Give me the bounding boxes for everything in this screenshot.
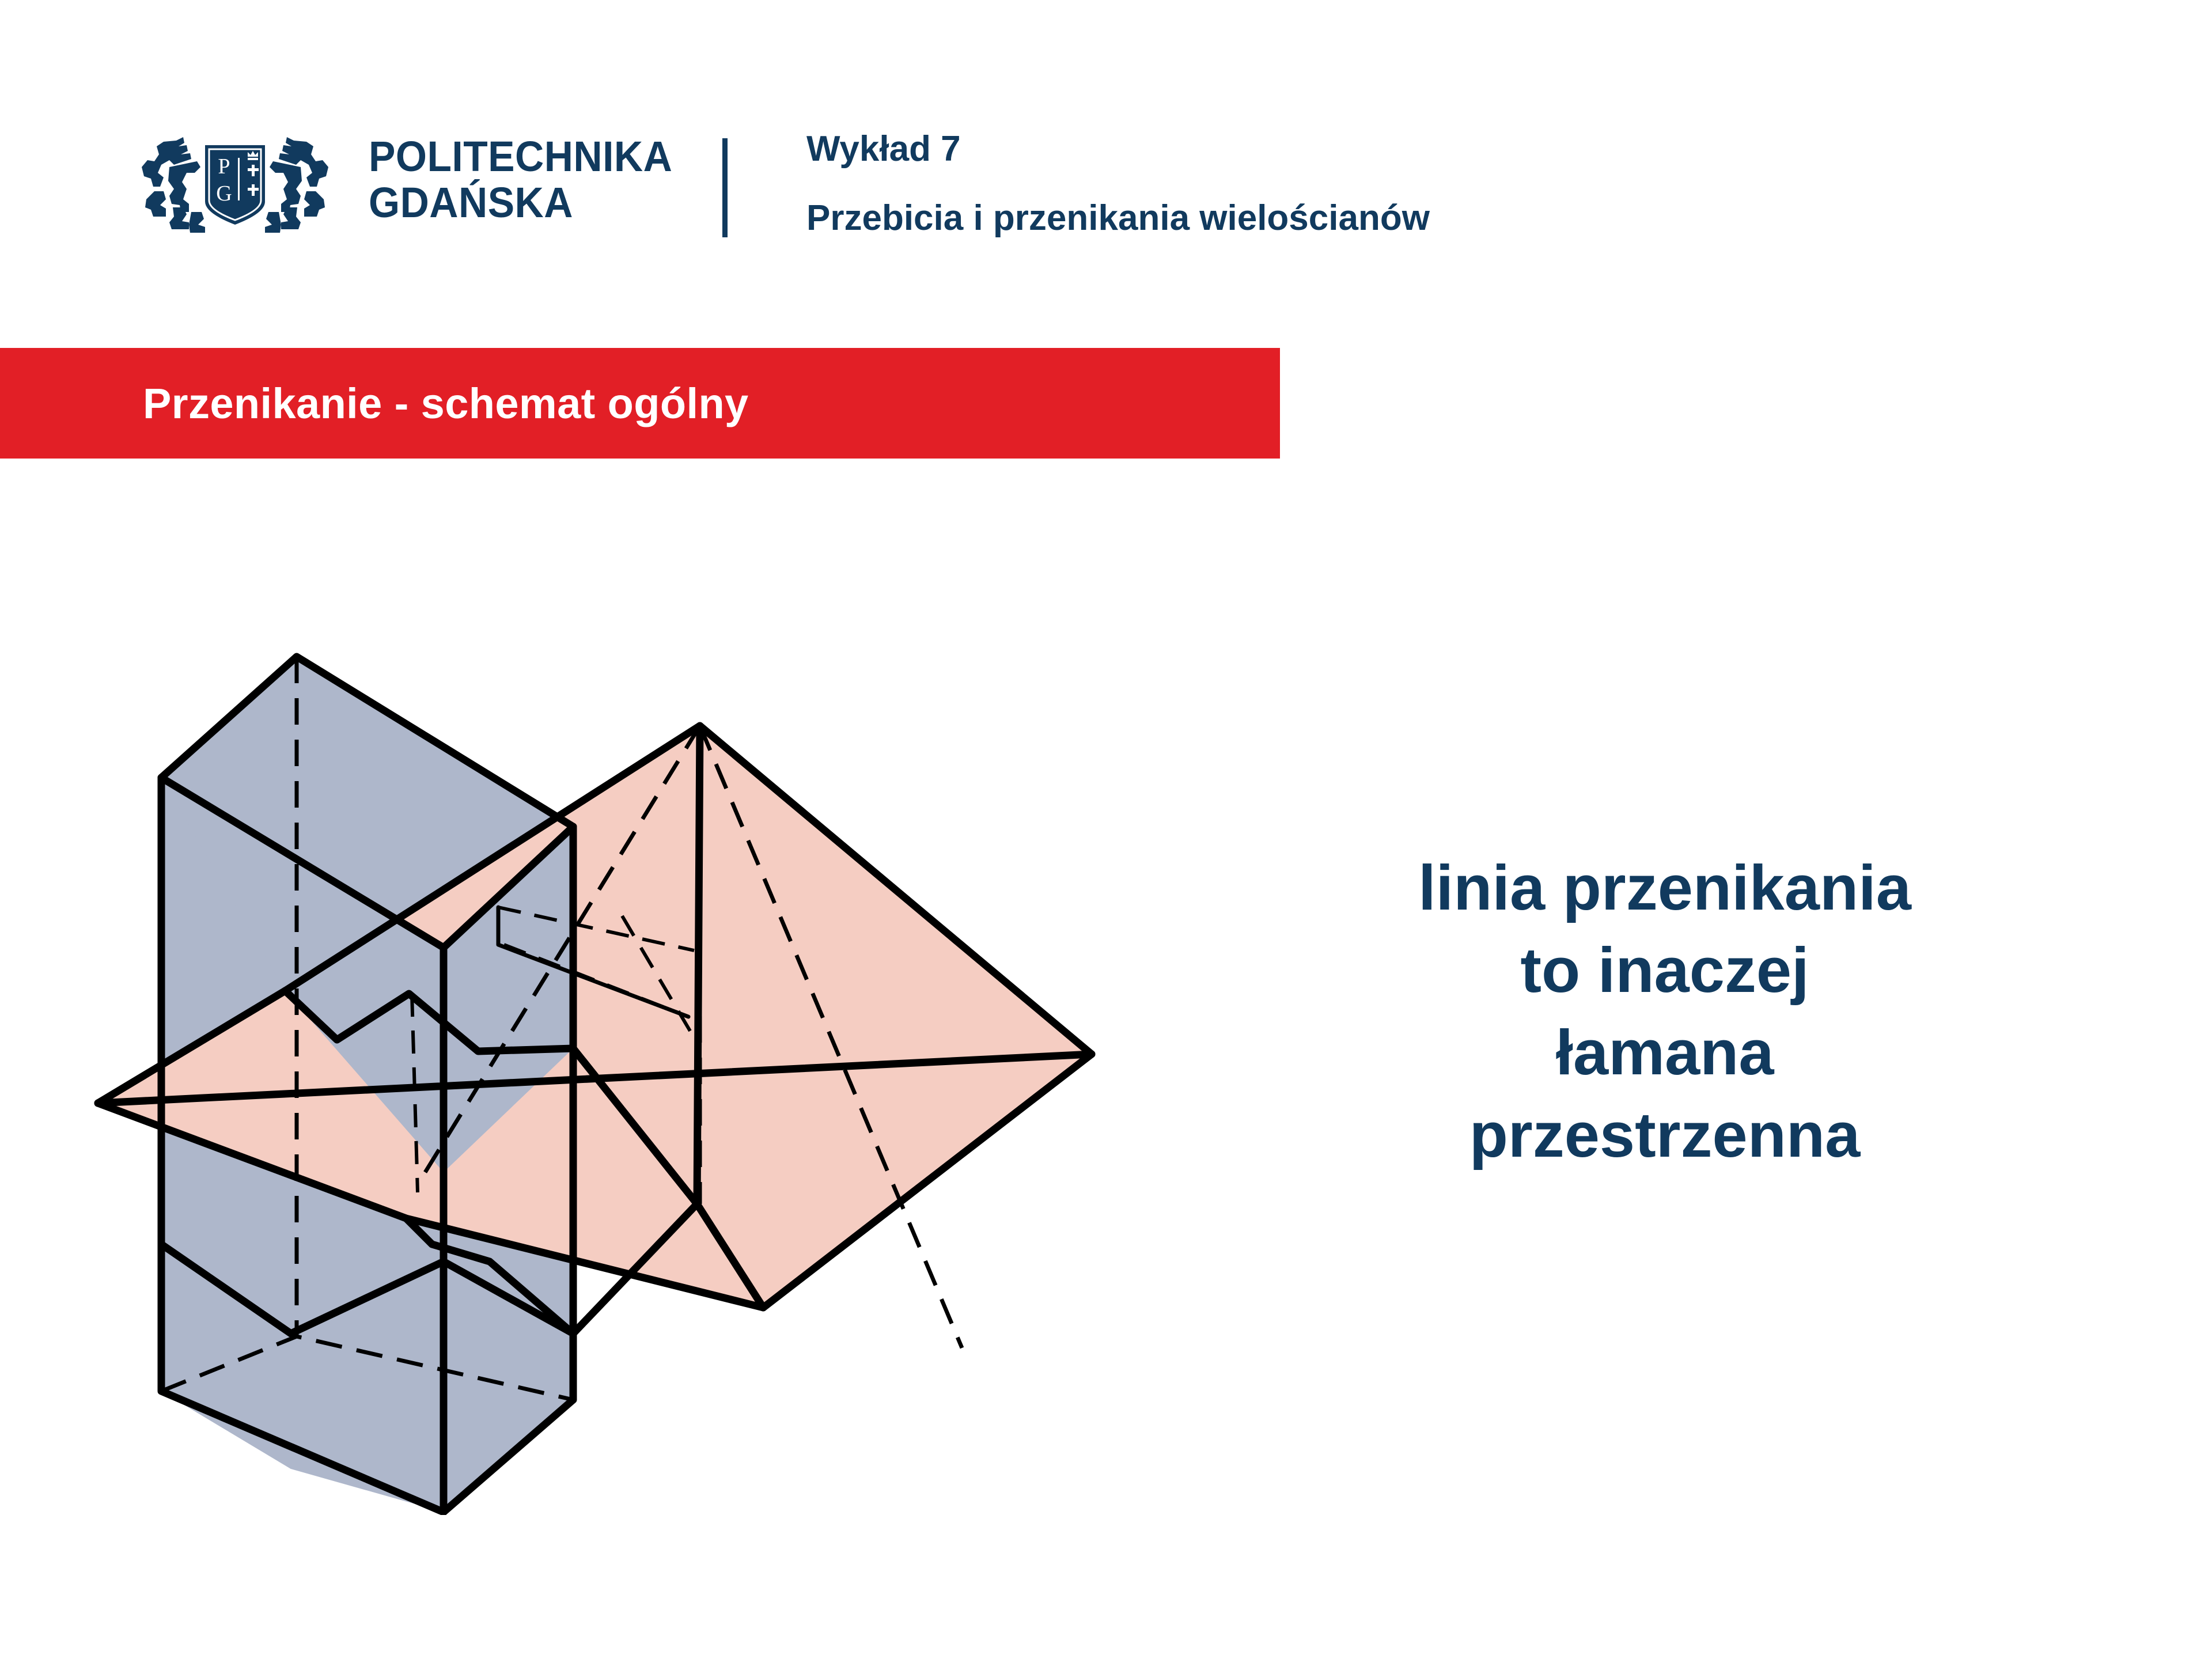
wordmark-line-politechnika: POLITECHNIKA xyxy=(369,134,650,180)
pg-coat-of-arms-logo: P G xyxy=(134,131,336,236)
header-divider xyxy=(722,138,728,237)
wordmark-line-gdanska: GDAŃSKA xyxy=(369,180,650,226)
pg-wordmark: POLITECHNIKA GDAŃSKA xyxy=(369,134,650,226)
lecture-number: Wykład 7 xyxy=(806,131,1430,167)
intersection-of-two-prisms-diagram: .face-blue { fill:#aeb7cb; } .face-pink … xyxy=(86,593,1267,1515)
lecture-subject: Przebicia i przenikania wielościanów xyxy=(806,200,1430,236)
svg-text:G: G xyxy=(216,181,232,206)
section-banner-title: Przenikanie - schemat ogólny xyxy=(143,379,749,428)
section-banner: Przenikanie - schemat ogólny xyxy=(0,348,1280,459)
caption-line-4: przestrzenna xyxy=(1256,1094,2074,1176)
caption-line-3: łamana xyxy=(1256,1012,2074,1094)
lecture-meta: Wykład 7 Przebicia i przenikania wielośc… xyxy=(806,131,1430,236)
caption-line-1: linia przenikania xyxy=(1256,847,2074,929)
caption-text: linia przenikania to inaczej łamana prze… xyxy=(1256,847,2074,1176)
svg-text:P: P xyxy=(218,154,230,179)
caption-line-2: to inaczej xyxy=(1256,929,2074,1012)
slide-header: P G POLITECHNIKA GDAŃSKA Wykład 7 Przebi… xyxy=(0,0,2212,300)
